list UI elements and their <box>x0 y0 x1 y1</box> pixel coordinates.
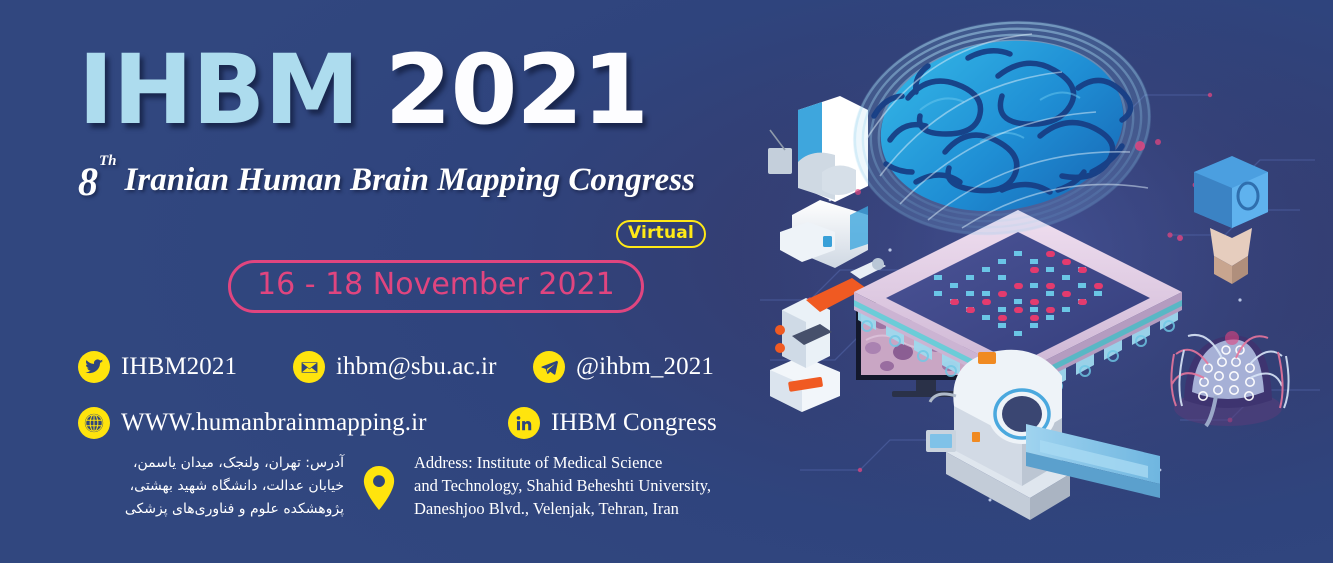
address-english: Address: Institute of Medical Science an… <box>414 452 732 520</box>
edition-suffix: Th <box>99 153 117 169</box>
date-badge: 16 - 18 November 2021 <box>228 260 644 313</box>
congress-subtitle: Iranian Human Brain Mapping Congress <box>125 162 695 199</box>
contact-row-1: IHBM2021 ihbm@sbu.ac.ir @ihbm_2021 <box>78 344 738 390</box>
address-english-line-2: and Technology, Shahid Beheshti Universi… <box>414 475 732 498</box>
address-persian-line-3: پژوهشکده علوم و فناوری‌های پزشکی <box>72 498 344 521</box>
telegram-icon <box>533 351 565 383</box>
address-persian: آدرس: تهران، ولنجک، میدان یاسمن، خیابان … <box>72 452 344 521</box>
logo-acronym: IHBM <box>78 42 359 138</box>
location-pin-icon <box>362 466 396 515</box>
contact-email[interactable]: ihbm@sbu.ac.ir <box>293 351 533 383</box>
linkedin-icon <box>508 407 540 439</box>
address-english-line-3: Daneshjoo Blvd., Velenjak, Tehran, Iran <box>414 498 732 521</box>
logo-lockup: IHBM 2021 <box>78 42 760 144</box>
contact-linkedin-label: IHBM Congress <box>551 409 717 437</box>
address-english-line-1: Address: Institute of Medical Science <box>414 452 732 475</box>
logo-year: 2021 <box>385 42 648 138</box>
conference-banner: IHBM 2021 8Th Iranian Human Brain Mappin… <box>0 0 1333 563</box>
contact-website[interactable]: WWW.humanbrainmapping.ir <box>78 407 508 439</box>
contact-telegram[interactable]: @ihbm_2021 <box>533 351 714 383</box>
contact-telegram-label: @ihbm_2021 <box>576 353 714 381</box>
subtitle-row: 8Th Iranian Human Brain Mapping Congress <box>78 162 760 204</box>
virtual-badge: Virtual <box>616 220 706 248</box>
contact-section: IHBM2021 ihbm@sbu.ac.ir @ihbm_2021 <box>78 344 738 446</box>
twitter-icon <box>78 351 110 383</box>
location-pin-wrap <box>344 452 414 515</box>
address-persian-line-2: خیابان عدالت، دانشگاه شهید بهشتی، <box>72 475 344 498</box>
contact-row-2: WWW.humanbrainmapping.ir IHBM Congress <box>78 400 738 446</box>
contact-email-label: ihbm@sbu.ac.ir <box>336 353 497 381</box>
contact-twitter[interactable]: IHBM2021 <box>78 351 293 383</box>
edition-ordinal: 8Th <box>78 162 116 202</box>
contact-website-label: WWW.humanbrainmapping.ir <box>121 409 427 437</box>
email-icon <box>293 351 325 383</box>
contact-twitter-label: IHBM2021 <box>121 353 237 381</box>
address-persian-line-1: آدرس: تهران، ولنجک، میدان یاسمن، <box>72 452 344 475</box>
artwork-panel <box>740 0 1333 563</box>
edition-number: 8 <box>78 159 98 204</box>
contact-linkedin[interactable]: IHBM Congress <box>508 407 717 439</box>
address-section: آدرس: تهران، ولنجک، میدان یاسمن، خیابان … <box>72 452 732 521</box>
globe-icon <box>78 407 110 439</box>
